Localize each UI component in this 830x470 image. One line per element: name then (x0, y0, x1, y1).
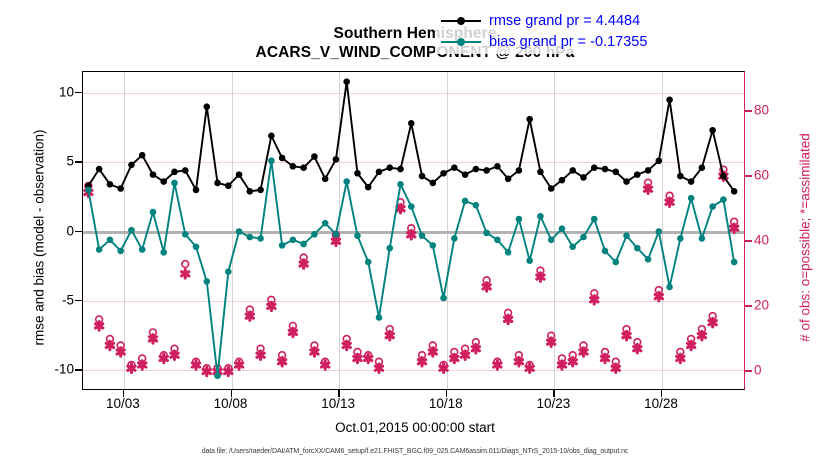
obs-assimilated-marker (278, 358, 285, 366)
y-axis-right-tick-label: 0 (754, 363, 762, 378)
x-axis-tick-label: 10/13 (321, 396, 355, 411)
y-axis-left-tick (75, 161, 82, 162)
series-point (709, 127, 716, 134)
legend: rmse grand pr = 4.4484 bias grand pr = -… (435, 8, 667, 54)
y-axis-right-tick (745, 305, 752, 307)
series-point (160, 178, 167, 185)
title-line-2: ACARS_V_WIND_COMPONENT @ 200 hPa (0, 43, 830, 62)
series-point (666, 96, 673, 103)
obs-assimilated-marker (505, 315, 512, 323)
obs-assimilated-marker (106, 341, 113, 349)
obs-assimilated-marker (591, 296, 598, 304)
series-point (462, 171, 469, 178)
series-point (343, 78, 350, 85)
obs-assimilated-marker (472, 344, 479, 352)
y-axis-left-tick (75, 300, 82, 301)
obs-assimilated-marker (332, 237, 339, 245)
series-point (483, 167, 490, 174)
series-point (526, 257, 533, 264)
series-point (494, 163, 501, 170)
series-point (279, 155, 286, 162)
obs-assimilated-marker (203, 367, 210, 375)
plot-area (82, 71, 745, 390)
series-point (709, 203, 716, 210)
series-point (160, 249, 167, 256)
series-point (569, 243, 576, 250)
series-point (656, 157, 663, 164)
obs-assimilated-marker (494, 361, 501, 369)
series-point (569, 167, 576, 174)
series-point (354, 232, 361, 239)
y-axis-left-tick-label: -10 (54, 362, 74, 377)
x-axis-tick-label: 10/28 (644, 396, 678, 411)
series-point (731, 188, 738, 195)
series-point (300, 164, 307, 171)
obs-assimilated-marker (246, 312, 253, 320)
y-axis-right-tick-label: 60 (754, 168, 769, 183)
series-point (537, 213, 544, 220)
obs-assimilated-marker (386, 331, 393, 339)
series-point (311, 231, 318, 238)
series-point (128, 227, 135, 234)
series-point (311, 153, 318, 160)
series-point (483, 230, 490, 237)
series-point (139, 152, 146, 159)
series-point (96, 166, 103, 173)
obs-assimilated-marker (160, 354, 167, 362)
obs-assimilated-marker (128, 364, 135, 372)
series-point (602, 248, 609, 255)
series-point (591, 164, 598, 171)
series-point (429, 242, 436, 249)
obs-assimilated-marker (322, 361, 329, 369)
y-axis-right-tick (745, 110, 752, 112)
series-point (516, 216, 523, 223)
series-point (559, 225, 566, 232)
series-point (279, 242, 286, 249)
series-point (516, 167, 523, 174)
series-point (505, 175, 512, 182)
series-point (580, 174, 587, 181)
obs-assimilated-marker (634, 344, 641, 352)
obs-assimilated-marker (461, 351, 468, 359)
series-point (645, 167, 652, 174)
y-axis-left-tick (75, 92, 82, 93)
obs-assimilated-marker (354, 354, 361, 362)
series-point (214, 180, 221, 187)
series-point (397, 181, 404, 188)
obs-assimilated-marker (429, 348, 436, 356)
series-point (333, 231, 340, 238)
series-point (419, 232, 426, 239)
series-point (612, 169, 619, 176)
y-axis-right-labels: 806040200 (754, 71, 794, 390)
obs-assimilated-marker (408, 231, 415, 239)
series-point (376, 314, 383, 321)
series-point (473, 166, 480, 173)
obs-assimilated-marker (96, 322, 103, 330)
obs-assimilated-marker (483, 283, 490, 291)
obs-assimilated-marker (225, 367, 232, 375)
legend-entry-rmse: rmse grand pr = 4.4484 (439, 10, 663, 31)
series-point (419, 173, 426, 180)
series-point (634, 245, 641, 252)
series-point (107, 237, 114, 244)
legend-label-bias: bias grand pr = -0.17355 (483, 34, 647, 50)
series-point (333, 156, 340, 163)
series-point (688, 178, 695, 185)
series-point (376, 169, 383, 176)
series-point (559, 177, 566, 184)
series-point (677, 173, 684, 180)
obs-assimilated-marker (569, 358, 576, 366)
obs-assimilated-marker (289, 328, 296, 336)
series-point (429, 180, 436, 187)
series-point (193, 243, 200, 250)
series-point (645, 256, 652, 263)
series-point (440, 295, 447, 302)
obs-assimilated-marker (235, 361, 242, 369)
obs-assimilated-marker (698, 331, 705, 339)
y-axis-right-tick-label: 40 (754, 233, 769, 248)
series-point (247, 188, 254, 195)
series-point (451, 235, 458, 242)
series-point (257, 235, 264, 242)
series-point (193, 187, 200, 194)
series-point (505, 249, 512, 256)
series-point (117, 185, 124, 192)
series-point (290, 237, 297, 244)
series-point (591, 216, 598, 223)
obs-assimilated-marker (397, 205, 404, 213)
obs-assimilated-marker (311, 348, 318, 356)
obs-assimilated-marker (558, 361, 565, 369)
series-point (731, 259, 738, 266)
y-axis-right-tick (745, 175, 752, 177)
series-point (268, 133, 275, 140)
obs-assimilated-marker (440, 364, 447, 372)
series-point (257, 187, 264, 194)
obs-assimilated-marker (365, 354, 372, 362)
obs-assimilated-marker (149, 335, 156, 343)
series-point (354, 170, 361, 177)
series-point (602, 166, 609, 173)
figure-root: Southern Hemisphere ACARS_V_WIND_COMPONE… (0, 0, 830, 470)
series-point (85, 187, 92, 194)
series-point (386, 245, 393, 252)
x-axis-tick-label: 10/23 (537, 396, 571, 411)
title-line-1: Southern Hemisphere (0, 24, 830, 43)
series-point (397, 166, 404, 173)
series-point (171, 169, 178, 176)
series-point (343, 178, 350, 185)
series-point (247, 234, 254, 241)
y-axis-left-title: rmse and bias (model - observation) (32, 78, 47, 398)
obs-assimilated-marker (171, 351, 178, 359)
series-point (623, 178, 630, 185)
data-file-note: data file: /Users/raeder/DAI/ATM_forcXX/… (0, 448, 830, 455)
obs-possible-marker (182, 261, 189, 268)
series-point (96, 246, 103, 253)
series-point (107, 181, 114, 188)
series-point (408, 120, 415, 127)
obs-assimilated-marker (268, 302, 275, 310)
series-point (688, 195, 695, 202)
series-point (322, 220, 329, 227)
x-axis-title: Oct.01,2015 00:00:00 start (0, 420, 830, 435)
series-point (386, 164, 393, 171)
series-point (203, 103, 210, 110)
series-point (548, 237, 555, 244)
chart-title: Southern Hemisphere ACARS_V_WIND_COMPONE… (0, 24, 830, 62)
obs-assimilated-marker (117, 348, 124, 356)
series-point (526, 116, 533, 123)
plot-canvas (83, 72, 744, 389)
series-point (656, 228, 663, 235)
series-point (451, 164, 458, 171)
series-point (699, 164, 706, 171)
series-point (365, 184, 372, 191)
obs-assimilated-marker (709, 318, 716, 326)
series-point (182, 231, 189, 238)
y-axis-left-tick-label: -5 (62, 292, 74, 307)
series-point (268, 157, 275, 164)
obs-assimilated-marker (655, 292, 662, 300)
series-point (666, 284, 673, 291)
series-point (623, 232, 630, 239)
obs-assimilated-marker (418, 358, 425, 366)
series-point (171, 180, 178, 187)
series-point (699, 235, 706, 242)
series-point (225, 182, 232, 189)
series-point (225, 268, 232, 275)
legend-marker-rmse (439, 14, 483, 28)
series-point (580, 234, 587, 241)
y-axis-right-tick (745, 240, 752, 242)
obs-assimilated-marker (182, 270, 189, 278)
y-axis-left-tick (75, 369, 82, 370)
series-point (150, 209, 157, 216)
series-point (612, 259, 619, 266)
obs-assimilated-marker (343, 341, 350, 349)
obs-assimilated-marker (731, 224, 738, 232)
series-point (182, 167, 189, 174)
series-point (462, 198, 469, 205)
series-point (150, 171, 157, 178)
series-point (537, 169, 544, 176)
series-point (494, 237, 501, 244)
legend-entry-bias: bias grand pr = -0.17355 (439, 31, 663, 52)
series-point (322, 175, 329, 182)
series-point (548, 185, 555, 192)
x-axis-tick-label: 10/18 (429, 396, 463, 411)
y-axis-left-tick-label: 0 (66, 223, 74, 238)
obs-assimilated-marker (139, 361, 146, 369)
series-point (236, 228, 243, 235)
y-axis-left-tick (75, 231, 82, 232)
series-point (290, 163, 297, 170)
series-point (139, 246, 146, 253)
series-point (408, 203, 415, 210)
obs-assimilated-marker (300, 260, 307, 268)
y-axis-left-tick-label: 10 (59, 84, 74, 99)
legend-label-rmse: rmse grand pr = 4.4484 (483, 13, 640, 29)
y-axis-left-tick-label: 5 (66, 154, 74, 169)
series-point (677, 235, 684, 242)
obs-assimilated-marker (192, 361, 199, 369)
x-axis-tick-label: 10/03 (106, 396, 140, 411)
obs-assimilated-marker (601, 354, 608, 362)
obs-assimilated-marker (537, 273, 544, 281)
series-point (720, 173, 727, 180)
series-point (236, 171, 243, 178)
series-point (117, 248, 124, 255)
series-point (214, 372, 221, 379)
obs-assimilated-marker (677, 354, 684, 362)
series-point (634, 171, 641, 178)
obs-assimilated-marker (612, 364, 619, 372)
obs-assimilated-marker (451, 354, 458, 362)
obs-assimilated-marker (526, 364, 533, 372)
legend-marker-bias (439, 35, 483, 49)
y-axis-right-title: # of obs: o=possible; *=assimilated (798, 73, 813, 403)
series-point (300, 241, 307, 248)
y-axis-right-tick-label: 20 (754, 298, 769, 313)
y-axis-right-tick (745, 370, 752, 372)
obs-assimilated-marker (644, 185, 651, 193)
series-point (365, 259, 372, 266)
obs-assimilated-marker (548, 338, 555, 346)
obs-assimilated-marker (687, 341, 694, 349)
obs-assimilated-marker (580, 348, 587, 356)
y-axis-right-tick-label: 80 (754, 103, 769, 118)
series-point (203, 278, 210, 285)
obs-assimilated-marker (515, 358, 522, 366)
obs-assimilated-marker (257, 351, 264, 359)
series-point (720, 196, 727, 203)
series-point (440, 170, 447, 177)
obs-assimilated-marker (623, 331, 630, 339)
series-point (473, 202, 480, 209)
series-point (128, 162, 135, 169)
data-series-layer (83, 72, 744, 389)
obs-assimilated-marker (666, 198, 673, 206)
x-axis-tick-label: 10/08 (214, 396, 248, 411)
obs-assimilated-marker (375, 364, 382, 372)
